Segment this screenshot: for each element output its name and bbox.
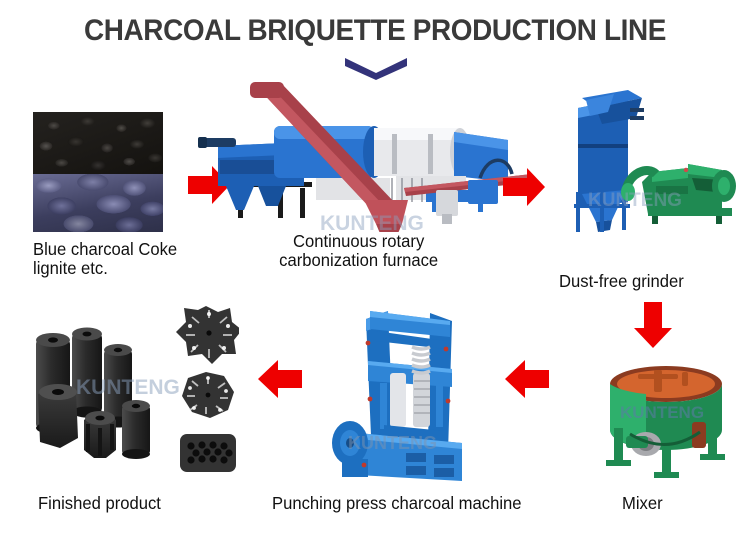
raw-material-coal-image [33,112,163,174]
dust-free-grinder-image: KUNTENG [556,86,742,236]
label-punching-press: Punching press charcoal machine [272,494,522,513]
label-mixer: Mixer [622,494,663,513]
punching-press-image: KUNTENG [318,303,498,485]
arrow-grinder-to-mixer-icon [634,302,672,348]
page-title: CHARCOAL BRIQUETTE PRODUCTION LINE [26,14,724,48]
watermark-kunteng: KUNTENG [588,190,682,211]
raw-material-lignite-image [33,174,163,232]
label-carbonization-furnace: Continuous rotary carbonization furnace [279,232,438,270]
arrow-press-to-product-icon [258,360,302,398]
watermark-kunteng: KUNTENG [320,212,424,232]
arrow-mixer-to-press-icon [505,360,549,398]
watermark-kunteng: KUNTENG [348,433,437,453]
label-raw-material: Blue charcoal Coke lignite etc. [33,240,177,278]
watermark-kunteng: KUNTENG [620,403,704,422]
watermark-kunteng: KUNTENG [76,376,180,399]
mixer-image: KUNTENG [596,360,736,484]
label-finished-product: Finished product [38,494,161,513]
label-dust-free-grinder: Dust-free grinder [559,272,684,291]
production-line-infographic: CHARCOAL BRIQUETTE PRODUCTION LINE Blue … [0,0,750,536]
chevron-down-icon [345,58,407,80]
finished-product-image: KUNTENG [24,298,239,478]
arrow-furnace-to-grinder-icon [503,168,545,206]
carbonization-furnace-image: KUNTENG [196,82,536,232]
